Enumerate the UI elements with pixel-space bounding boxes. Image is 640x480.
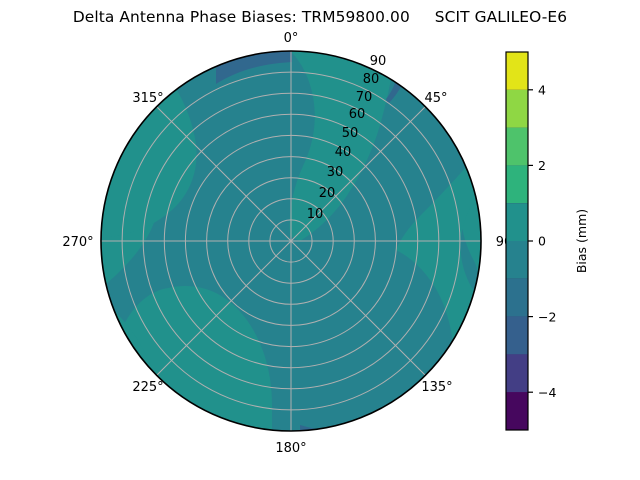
radial-label-10: 10 [307, 207, 324, 222]
radial-label-80: 80 [363, 72, 380, 87]
polar-angular-grid [101, 51, 481, 431]
colorbar: 4 2 0 −2 −4 Bias (mm) [506, 52, 589, 430]
colorbar-tick-label-2: 2 [538, 158, 546, 173]
radial-label-50: 50 [342, 126, 359, 141]
radial-label-60: 60 [349, 107, 366, 122]
theta-label-45: 45° [424, 91, 447, 106]
theta-label-270: 270° [62, 235, 93, 250]
colorbar-tick-label-n2: −2 [538, 309, 556, 324]
colorbar-seg-5 [506, 203, 528, 241]
theta-label-135: 135° [421, 380, 452, 395]
colorbar-seg-4 [506, 241, 528, 279]
theta-label-225: 225° [132, 380, 163, 395]
colorbar-seg-7 [506, 128, 528, 166]
theta-label-180: 180° [275, 441, 306, 456]
contour-band-1-2-southwest-tip [125, 396, 163, 431]
radial-label-40: 40 [335, 145, 352, 160]
colorbar-seg-8 [506, 90, 528, 128]
colorbar-ticks [528, 90, 533, 392]
radial-label-30: 30 [327, 165, 344, 180]
radial-label-20: 20 [319, 186, 336, 201]
colorbar-axis-label: Bias (mm) [574, 209, 589, 273]
colorbar-seg-1 [506, 354, 528, 392]
theta-label-315: 315° [132, 91, 163, 106]
theta-label-0: 0° [284, 31, 299, 46]
colorbar-tick-labels: 4 2 0 −2 −4 [538, 83, 556, 400]
colorbar-seg-2 [506, 317, 528, 355]
radial-label-90: 90 [370, 54, 387, 69]
colorbar-segments [506, 52, 528, 430]
colorbar-tick-label-0: 0 [538, 234, 546, 249]
polar-plot: 0° 45° 90 135° 180° 225° 270° 315° 10 20… [0, 0, 640, 480]
colorbar-seg-0 [506, 392, 528, 430]
figure-canvas: Delta Antenna Phase Biases: TRM59800.00 … [0, 0, 640, 480]
colorbar-tick-label-4: 4 [538, 83, 546, 98]
colorbar-tick-label-n4: −4 [538, 385, 556, 400]
colorbar-seg-9 [506, 52, 528, 90]
radial-label-70: 70 [356, 90, 373, 105]
colorbar-seg-6 [506, 165, 528, 203]
colorbar-seg-3 [506, 279, 528, 317]
